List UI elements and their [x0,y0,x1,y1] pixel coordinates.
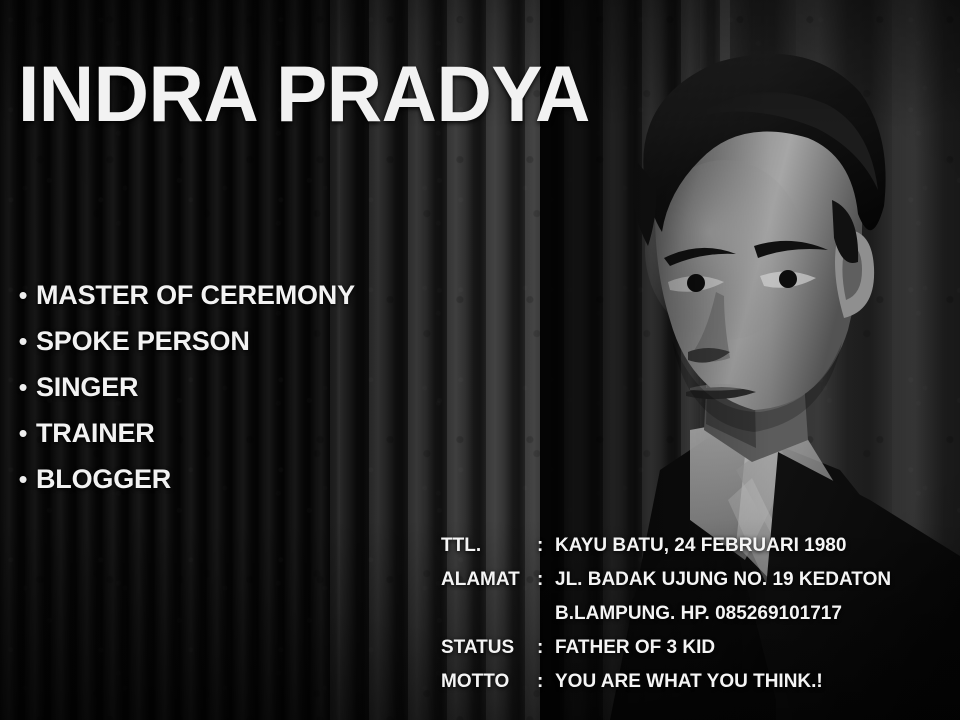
role-label: TRAINER [36,418,155,449]
info-separator: : [537,569,555,591]
info-separator: : [537,637,555,659]
info-row-alamat-continued: B.LAMPUNG. HP. 085269101717 [441,603,891,637]
list-item: • MASTER OF CEREMONY [10,272,355,318]
bullet-icon: • [10,328,36,354]
list-item: • SINGER [10,364,355,410]
bullet-icon: • [10,420,36,446]
info-row-motto: MOTTO : YOU ARE WHAT YOU THINK.! [441,671,891,705]
profile-slide: INDRA PRADYA • MASTER OF CEREMONY • SPOK… [0,0,960,720]
list-item: • SPOKE PERSON [10,318,355,364]
bullet-icon: • [10,282,36,308]
info-row-status: STATUS : FATHER OF 3 KID [441,637,891,671]
info-value: YOU ARE WHAT YOU THINK.! [555,671,891,693]
info-separator: : [537,535,555,557]
info-value: KAYU BATU, 24 FEBRUARI 1980 [555,535,891,557]
info-value: JL. BADAK UJUNG NO. 19 KEDATON [555,569,891,591]
role-label: BLOGGER [36,464,171,495]
list-item: • TRAINER [10,410,355,456]
role-label: SPOKE PERSON [36,326,250,357]
info-value: FATHER OF 3 KID [555,637,891,659]
bullet-icon: • [10,466,36,492]
info-separator: : [537,671,555,693]
info-label: ALAMAT [441,569,537,591]
role-label: MASTER OF CEREMONY [36,280,355,311]
info-label: TTL. [441,535,537,557]
info-value: B.LAMPUNG. HP. 085269101717 [555,603,891,625]
bullet-icon: • [10,374,36,400]
info-row-ttl: TTL. : KAYU BATU, 24 FEBRUARI 1980 [441,535,891,569]
role-label: SINGER [36,372,138,403]
roles-list: • MASTER OF CEREMONY • SPOKE PERSON • SI… [10,272,355,502]
list-item: • BLOGGER [10,456,355,502]
info-label: MOTTO [441,671,537,693]
page-title: INDRA PRADYA [18,54,590,133]
info-label: STATUS [441,637,537,659]
personal-info-block: TTL. : KAYU BATU, 24 FEBRUARI 1980 ALAMA… [441,535,891,705]
info-row-alamat: ALAMAT : JL. BADAK UJUNG NO. 19 KEDATON [441,569,891,603]
